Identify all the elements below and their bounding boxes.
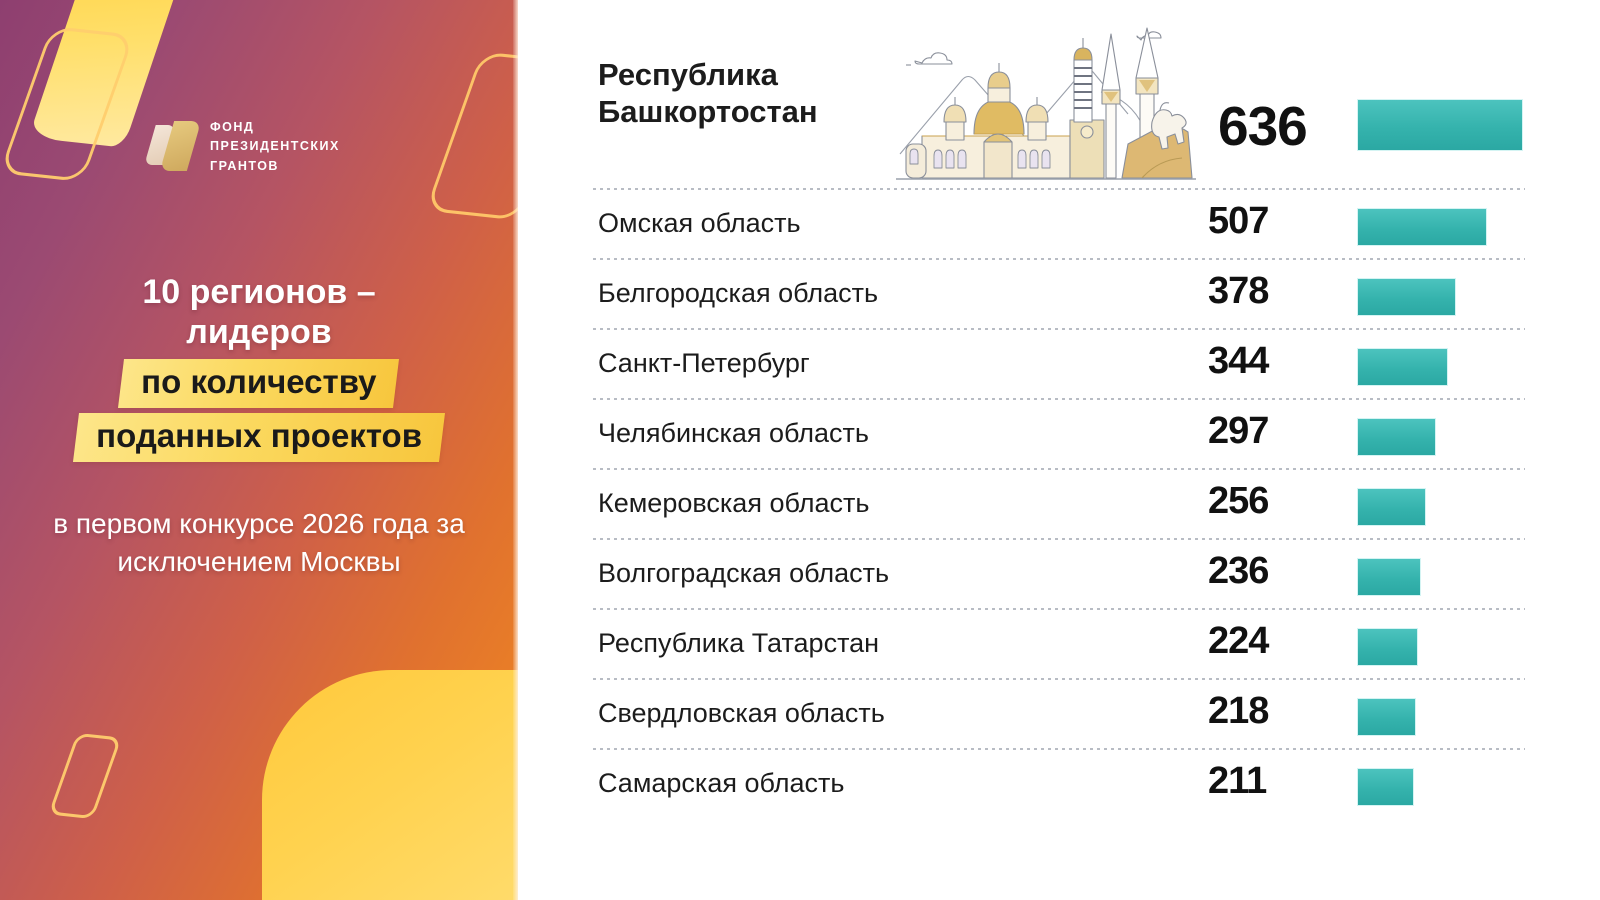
region-name: Омская область <box>598 208 801 239</box>
fund-logo: ФОНД ПРЕЗИДЕНТСКИХ ГРАНТОВ <box>150 118 340 176</box>
logo-line-1: ФОНД <box>210 118 340 137</box>
logo-line-3: ГРАНТОВ <box>210 157 340 176</box>
region-name: Белгородская область <box>598 278 878 309</box>
ranking-chart: Республика Башкортостан 636 Омская облас… <box>518 0 1600 900</box>
headline-highlight-1-text: по количеству <box>142 363 377 401</box>
fund-logo-mark-icon <box>150 121 196 173</box>
table-row: Белгородская область 378 <box>518 258 1600 328</box>
value-bar <box>1358 769 1413 805</box>
headline-highlight-2: поданных проектов <box>73 413 445 462</box>
region-name: Самарская область <box>598 768 844 799</box>
value-bar <box>1358 349 1447 385</box>
region-name: Свердловская область <box>598 698 885 729</box>
table-row: Челябинская область 297 <box>518 398 1600 468</box>
logo-line-2: ПРЕЗИДЕНТСКИХ <box>210 137 340 156</box>
value-bar <box>1358 279 1455 315</box>
region-name: Санкт-Петербург <box>598 348 810 379</box>
fund-logo-text: ФОНД ПРЕЗИДЕНТСКИХ ГРАНТОВ <box>210 118 340 176</box>
region-name: Челябинская область <box>598 418 869 449</box>
ribbon-outline-right-icon <box>425 51 518 220</box>
table-row: Омская область 507 <box>518 188 1600 258</box>
table-row: Санкт-Петербург 344 <box>518 328 1600 398</box>
corner-blob-decoration <box>262 670 518 900</box>
left-branding-panel: ФОНД ПРЕЗИДЕНТСКИХ ГРАНТОВ 10 регионов –… <box>0 0 518 900</box>
value-bar <box>1358 489 1425 525</box>
headline-highlight-1: по количеству <box>118 359 399 408</box>
value-bar <box>1358 559 1420 595</box>
region-name: Республика Башкортостан <box>598 56 818 130</box>
table-row: Самарская область 211 <box>518 748 1600 818</box>
value-bar <box>1358 100 1522 150</box>
table-row: Кемеровская область 256 <box>518 468 1600 538</box>
value-bar <box>1358 699 1415 735</box>
headline-line-2: лидеров <box>0 312 518 352</box>
headline-block: 10 регионов – лидеров по количеству пода… <box>0 272 518 462</box>
table-row: Свердловская область 218 <box>518 678 1600 748</box>
ribbon-outline-bottom-left-icon <box>48 733 121 819</box>
region-name: Волгоградская область <box>598 558 889 589</box>
headline-highlight-2-text: поданных проектов <box>96 417 422 455</box>
region-name: Республика Татарстан <box>598 628 879 659</box>
value-bar <box>1358 419 1435 455</box>
value-bar <box>1358 629 1417 665</box>
subtitle-text: в первом конкурсе 2026 года за исключени… <box>0 505 518 582</box>
table-row: Волгоградская область 236 <box>518 538 1600 608</box>
infographic-root: ФОНД ПРЕЗИДЕНТСКИХ ГРАНТОВ 10 регионов –… <box>0 0 1600 900</box>
table-row: Республика Башкортостан 636 <box>518 0 1600 188</box>
value-bar <box>1358 209 1486 245</box>
region-name: Кемеровская область <box>598 488 869 519</box>
table-row: Республика Татарстан 224 <box>518 608 1600 678</box>
headline-line-1: 10 регионов – <box>0 272 518 312</box>
